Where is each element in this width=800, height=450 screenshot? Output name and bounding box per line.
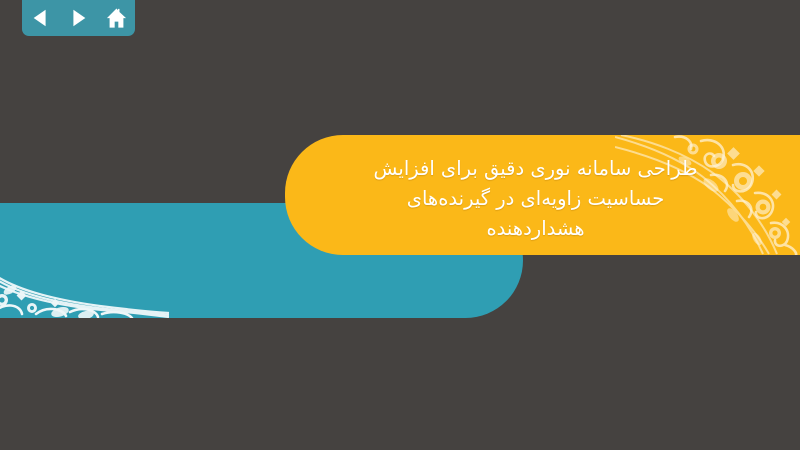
home-button[interactable]: [102, 5, 130, 31]
triangle-right-icon: [67, 7, 89, 29]
slide-title-line-2: حساسیت زاویه‌ای در گیرنده‌های: [407, 184, 665, 214]
slide-title-line-1: طراحی سامانه نوری دقیق برای افزایش: [374, 154, 698, 184]
slide-title: طراحی سامانه نوری دقیق برای افزایش حساسی…: [285, 136, 790, 256]
triangle-left-icon: [30, 7, 52, 29]
slide-title-line-3: هشداردهنده: [486, 214, 584, 244]
previous-slide-button[interactable]: [27, 5, 55, 31]
arabesque-corner-ornament-teal: [0, 203, 170, 318]
home-icon: [105, 7, 128, 30]
slide-navigation-bar: [22, 0, 135, 36]
next-slide-button[interactable]: [64, 5, 92, 31]
presentation-slide: طراحی سامانه نوری دقیق برای افزایش حساسی…: [0, 0, 800, 450]
